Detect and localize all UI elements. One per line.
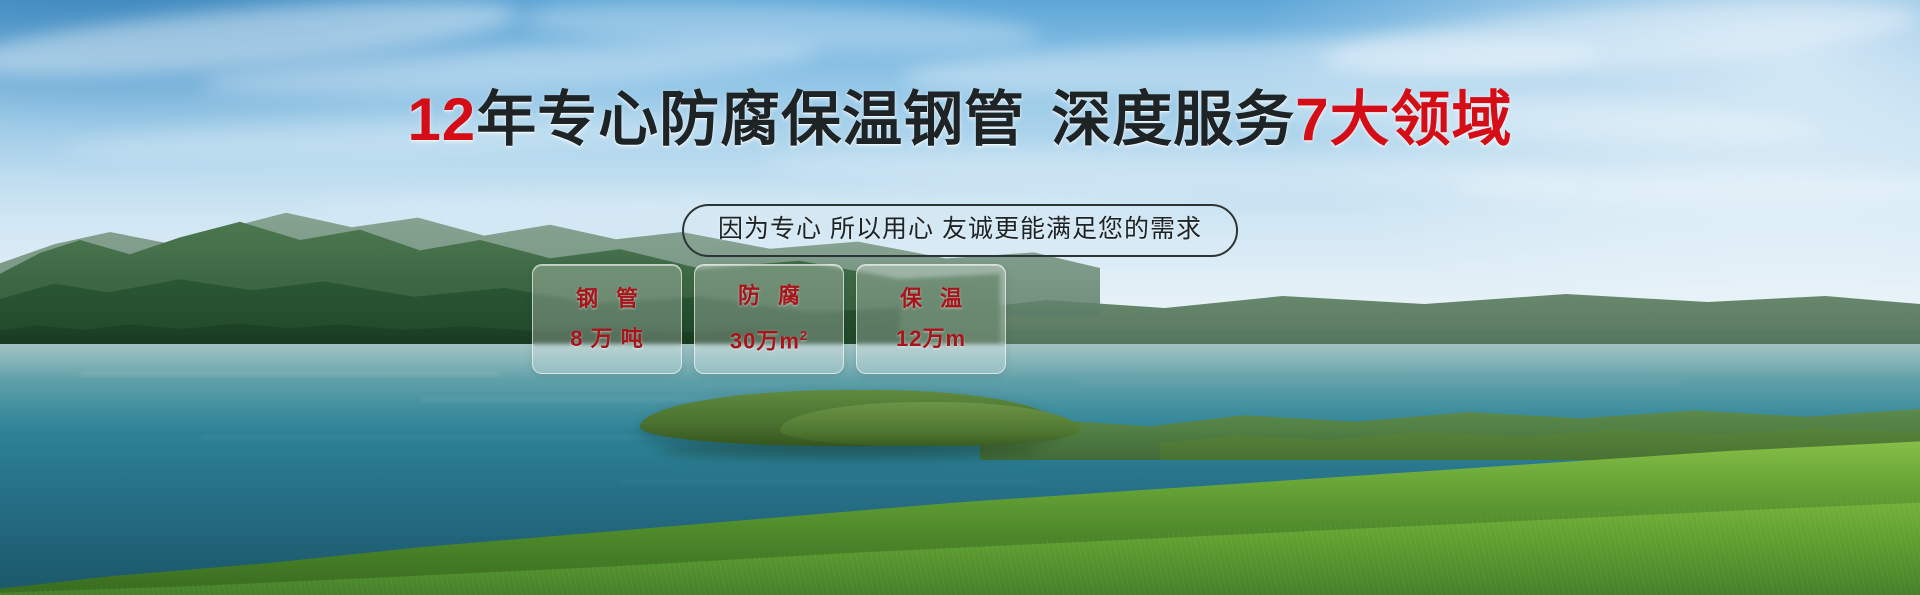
hero-banner: 12年专心防腐保温钢管深度服务7大领域 因为专心 所以用心 友诚更能满足您的需求… — [0, 0, 1920, 595]
banner-headline: 12年专心防腐保温钢管深度服务7大领域 — [0, 88, 1920, 152]
headline-text-3: 大领域 — [1330, 86, 1513, 153]
stat-card-title: 保 温 — [894, 286, 968, 312]
water-ripple — [80, 372, 500, 375]
stat-card-insulation[interactable]: 保 温 12万m — [856, 264, 1006, 374]
stat-card-title: 钢 管 — [570, 286, 644, 312]
stat-card-steel-pipe[interactable]: 钢 管 8 万 吨 — [532, 264, 682, 374]
stat-card-value-text: 30万m — [730, 329, 800, 354]
water-ripple — [1080, 380, 1680, 383]
stat-card-title: 防 腐 — [732, 283, 806, 309]
stat-card-value-superscript: 2 — [800, 328, 808, 343]
stat-card-value: 8 万 吨 — [570, 326, 643, 352]
water-ripple — [620, 480, 1040, 483]
headline-text-1: 年专心防腐保温钢管 — [476, 86, 1025, 153]
stat-card-list: 钢 管 8 万 吨 防 腐 30万m2 保 温 12万m — [532, 264, 1006, 374]
water-ripple — [200, 436, 700, 439]
headline-text-2: 深度服务 — [1051, 86, 1295, 153]
stat-card-value: 12万m — [896, 326, 966, 352]
headline-fields-number: 7 — [1295, 86, 1329, 153]
stat-card-value-text: 12万m — [896, 326, 966, 351]
stat-card-value: 30万m2 — [730, 323, 808, 354]
stat-card-value-text: 8 万 吨 — [570, 326, 643, 351]
headline-years-number: 12 — [407, 86, 476, 153]
banner-subtitle-pill: 因为专心 所以用心 友诚更能满足您的需求 — [682, 204, 1238, 257]
stat-card-anticorrosion[interactable]: 防 腐 30万m2 — [694, 264, 844, 374]
